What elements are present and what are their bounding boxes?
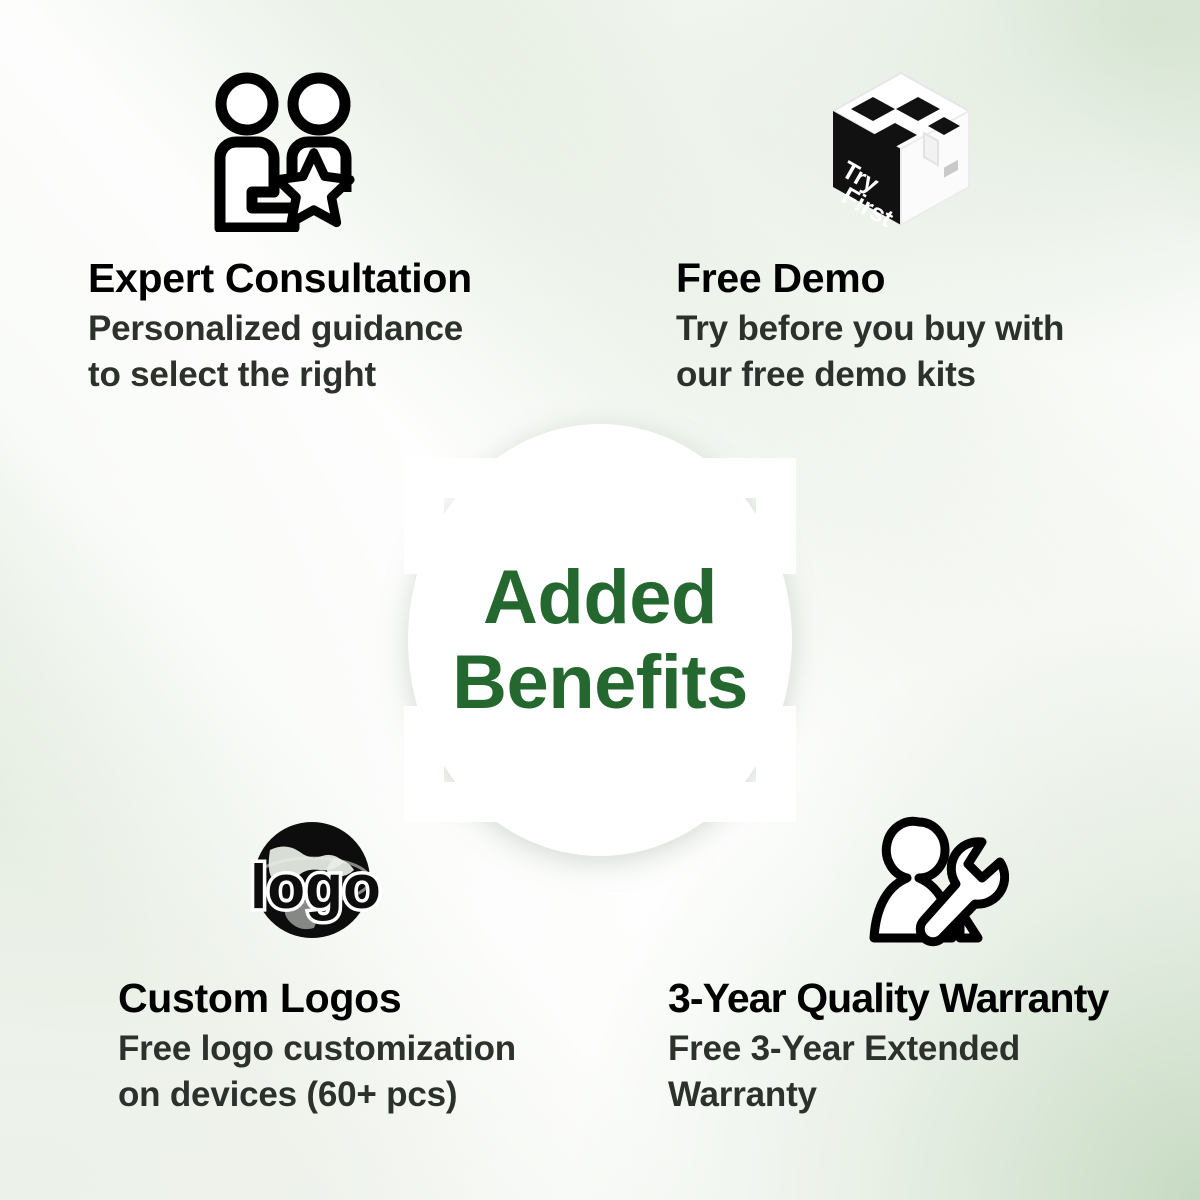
benefit-card-free-demo: Try First Free Demo Try before you buy w…: [676, 62, 1196, 399]
try-first-box-icon: Try First: [676, 62, 1196, 232]
card-title: Free Demo: [676, 256, 1196, 300]
card-title: Custom Logos: [118, 976, 638, 1020]
badge-line-2: Benefits: [452, 640, 748, 725]
card-description: Free 3-Year Extended Warranty: [668, 1026, 1188, 1118]
card-description-line: Free 3-Year Extended: [668, 1026, 1188, 1072]
card-title: Expert Consultation: [88, 256, 608, 300]
card-description-line: Free logo customization: [118, 1026, 638, 1072]
card-description-line: Personalized guidance: [88, 306, 608, 352]
card-description: Try before you buy with our free demo ki…: [676, 306, 1196, 398]
badge-text: Added Benefits: [396, 424, 804, 856]
card-description-line: Warranty: [668, 1072, 1188, 1118]
card-description: Personalized guidance to select the righ…: [88, 306, 608, 398]
card-description-line: on devices (60+ pcs): [118, 1072, 638, 1118]
added-benefits-infographic: Expert Consultation Personalized guidanc…: [0, 0, 1200, 1200]
card-description-line: our free demo kits: [676, 352, 1196, 398]
benefit-card-expert-consultation: Expert Consultation Personalized guidanc…: [88, 62, 608, 399]
card-description: Free logo customization on devices (60+ …: [118, 1026, 638, 1118]
card-description-line: Try before you buy with: [676, 306, 1196, 352]
card-title: 3-Year Quality Warranty: [668, 976, 1188, 1020]
two-people-star-icon: [88, 62, 608, 232]
badge-line-1: Added: [483, 555, 717, 640]
globe-logo-label: logo: [250, 853, 381, 922]
card-description-line: to select the right: [88, 352, 608, 398]
added-benefits-badge: Added Benefits: [396, 424, 804, 856]
